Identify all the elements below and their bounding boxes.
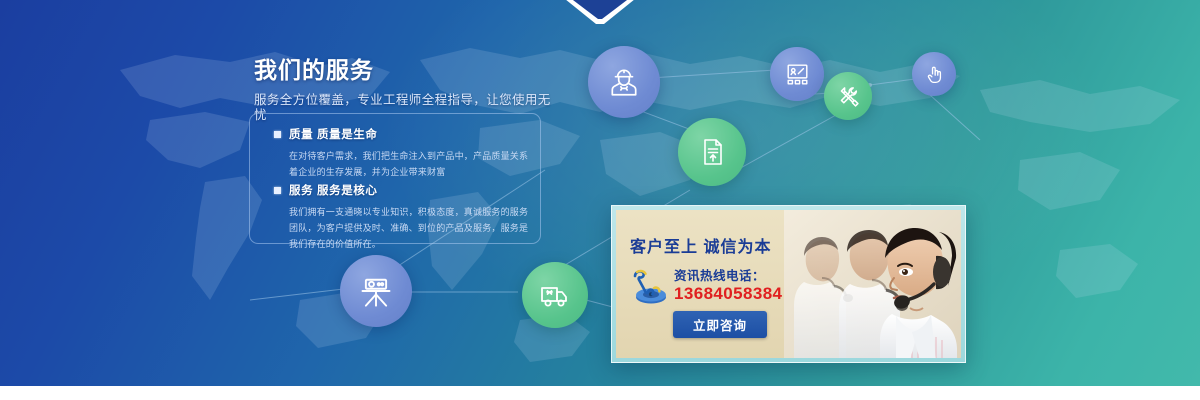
block-body: 在对待客户需求，我们把生命注入到产品中，产品质量关系着企业的生存发展，并为企业带… bbox=[274, 149, 534, 181]
hotline-number: 13684058384 bbox=[674, 284, 782, 304]
service-banner: 我们的服务 服务全方位覆盖，专业工程师全程指导，让您使用无忧 质量 质量是生命 … bbox=[0, 0, 1200, 400]
node-delivery-truck-icon[interactable] bbox=[522, 262, 588, 328]
page-title: 我们的服务 bbox=[254, 58, 554, 83]
node-hand-click-icon[interactable] bbox=[912, 52, 956, 96]
square-bullet-icon bbox=[274, 131, 281, 138]
service-block-service: 服务 服务是核心 我们拥有一支通晓以专业知识，积极态度，真诚服务的服务团队，为客… bbox=[274, 182, 532, 252]
telephone-icon bbox=[627, 266, 671, 311]
contact-card-inner: 客户至上 诚信为本 资讯热线电话： 13684058384 立即咨询 bbox=[616, 210, 961, 358]
node-document-upload-icon[interactable] bbox=[678, 118, 746, 186]
block-heading: 质量 质量是生命 bbox=[274, 126, 532, 142]
contact-card: 客户至上 诚信为本 资讯热线电话： 13684058384 立即咨询 bbox=[611, 205, 966, 363]
node-survey-tripod-icon[interactable] bbox=[340, 255, 412, 327]
card-slogan: 客户至上 诚信为本 bbox=[630, 233, 771, 257]
node-training-board-icon[interactable] bbox=[770, 47, 824, 101]
block-heading: 服务 服务是核心 bbox=[274, 182, 532, 198]
hotline-label: 资讯热线电话： bbox=[674, 265, 765, 284]
block-title: 服务 服务是核心 bbox=[289, 182, 378, 198]
block-body: 我们拥有一支通晓以专业知识，积极态度，真诚服务的服务团队，为客户提供及时、准确、… bbox=[274, 205, 534, 252]
bottom-white-strip bbox=[0, 386, 1200, 400]
block-title: 质量 质量是生命 bbox=[289, 126, 378, 142]
call-center-agents-photo bbox=[784, 210, 961, 358]
consult-now-button[interactable]: 立即咨询 bbox=[673, 311, 767, 338]
service-block-quality: 质量 质量是生命 在对待客户需求，我们把生命注入到产品中，产品质量关系着企业的生… bbox=[274, 126, 532, 181]
node-engineer-icon[interactable] bbox=[588, 46, 660, 118]
node-tools-icon[interactable] bbox=[824, 72, 872, 120]
square-bullet-icon bbox=[274, 187, 281, 194]
